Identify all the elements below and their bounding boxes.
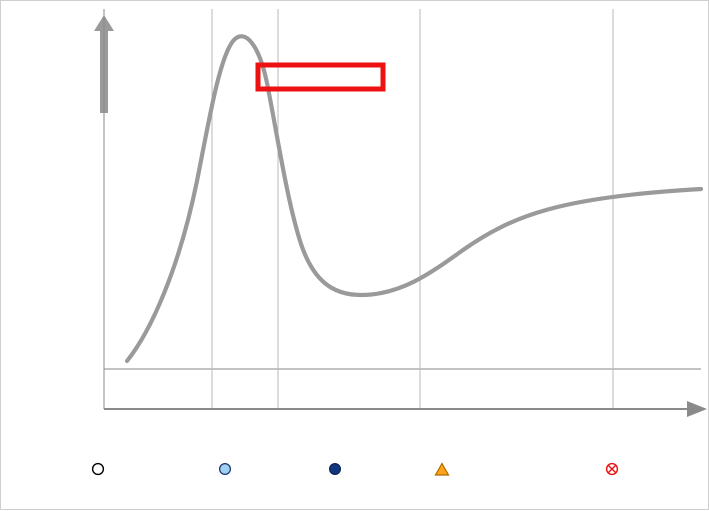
legend-item-more-than-10-years: [436, 464, 449, 476]
legend-item-less-than-2-years: [93, 464, 104, 475]
circle-dark-blue-icon: [330, 464, 341, 475]
content-marketing-highlight-box: [258, 65, 383, 89]
plot-frame: [104, 9, 701, 409]
legend-item-obsolete-before-plateau: [607, 464, 618, 475]
hype-cycle-chart: [0, 0, 709, 510]
legend-item-2-to-5-years: [220, 464, 231, 475]
triangle-orange-icon: [436, 464, 449, 476]
chart-canvas: [1, 1, 709, 511]
hype-curve: [127, 36, 701, 361]
legend-item-5-to-10-years: [330, 464, 341, 475]
circle-light-blue-icon: [220, 464, 231, 475]
legend: [93, 464, 618, 476]
circle-white-icon: [93, 464, 104, 475]
